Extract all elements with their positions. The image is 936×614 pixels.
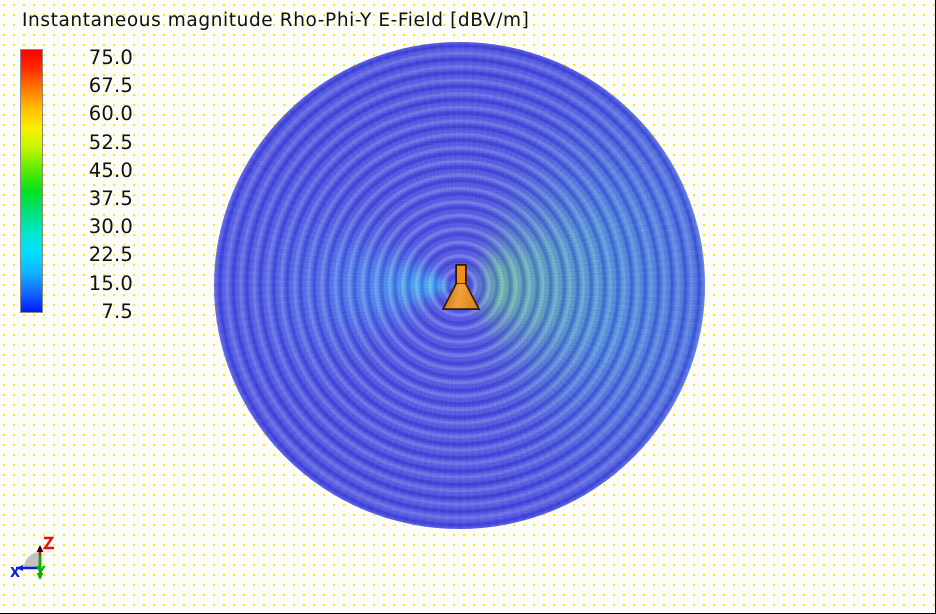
colorbar-tick: 67.5 <box>48 72 133 100</box>
colorbar-tick-list: 75.0 67.5 60.0 52.5 45.0 37.5 30.0 22.5 … <box>48 44 133 326</box>
colorbar-tick: 15.0 <box>48 270 133 298</box>
colorbar-tick: 52.5 <box>48 129 133 157</box>
antenna-outline-icon <box>442 264 480 310</box>
colorbar-tick: 60.0 <box>48 100 133 128</box>
colorbar-legend: 75.0 67.5 60.0 52.5 45.0 37.5 30.0 22.5 … <box>20 49 133 319</box>
axis-triad-glyph <box>4 534 66 592</box>
colorbar-tick: 22.5 <box>48 241 133 269</box>
axis-label-x: X <box>10 566 20 581</box>
coordinate-axis-triad[interactable]: X Y <box>4 534 66 592</box>
colorbar-tick: 75.0 <box>48 44 133 72</box>
colorbar-tick: 45.0 <box>48 157 133 185</box>
page-title: Instantaneous magnitude Rho-Phi-Y E-Fiel… <box>22 10 530 31</box>
axis-label-y: Y <box>36 565 45 580</box>
horn-antenna[interactable] <box>442 264 480 310</box>
colorbar-tick: 37.5 <box>48 185 133 213</box>
colorbar-tick: 30.0 <box>48 213 133 241</box>
colorbar-gradient[interactable] <box>20 49 43 313</box>
colorbar-tick: 7.5 <box>48 298 133 326</box>
field-viewer-canvas: Instantaneous magnitude Rho-Phi-Y E-Fiel… <box>0 0 936 614</box>
